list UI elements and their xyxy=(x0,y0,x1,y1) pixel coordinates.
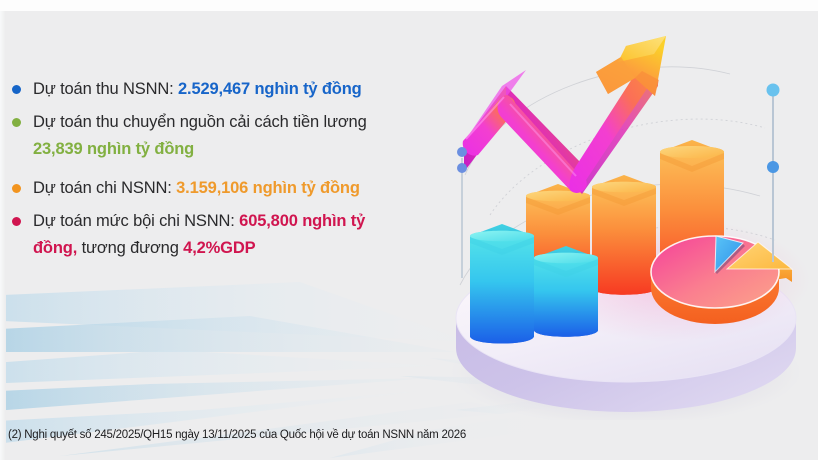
label-chi-nsnn: Dự toán chi NSNN: xyxy=(33,179,176,197)
right-connector-dots xyxy=(767,84,780,263)
bullet-row-thu-nsnn: Dự toán thu NSNN: 2.529,467 nghìn tỷ đồn… xyxy=(12,76,452,103)
bar-4-orange xyxy=(592,175,656,295)
label-tuong-duong: tương đương xyxy=(77,239,183,257)
bullet-row-chi-nsnn: Dự toán chi NSNN: 3.159,106 nghìn tỷ đồn… xyxy=(12,175,452,202)
bullet-row-thu-chuyen-nguon: Dự toán thu chuyển nguồn cải cách tiền l… xyxy=(12,109,452,163)
3d-statistics-illustration xyxy=(430,0,818,420)
bullet-list: Dự toán thu NSNN: 2.529,467 nghìn tỷ đồn… xyxy=(12,76,452,268)
top-white-strip xyxy=(0,0,818,11)
left-edge-highlight xyxy=(0,10,6,460)
value-chi-nsnn: 3.159,106 nghìn tỷ đồng xyxy=(176,179,360,197)
bullet-dot-icon-orange xyxy=(12,184,21,193)
value-thu-nsnn: 2.529,467 nghìn tỷ đồng xyxy=(178,80,362,98)
value-thu-chuyen-nguon: 23,839 nghìn tỷ đồng xyxy=(33,140,194,158)
bar-2-cyan-short xyxy=(534,246,598,337)
bullet-text-chi-nsnn: Dự toán chi NSNN: 3.159,106 nghìn tỷ đồn… xyxy=(33,175,360,202)
footnote-text: (2) Nghị quyết số 245/2025/QH15 ngày 13/… xyxy=(8,429,466,441)
slide-root: Dự toán thu NSNN: 2.529,467 nghìn tỷ đồn… xyxy=(0,0,818,460)
bullet-dot-icon-green xyxy=(12,118,21,127)
value-boi-chi-continuation: đồng, xyxy=(33,239,77,257)
value-boi-chi-nsnn: 605,800 nghìn tỷ xyxy=(239,212,365,230)
bullet-text-boi-chi-nsnn: Dự toán mức bội chi NSNN: 605,800 nghìn … xyxy=(33,208,365,262)
growth-arrow xyxy=(463,36,666,194)
bullet-row-boi-chi-nsnn: Dự toán mức bội chi NSNN: 605,800 nghìn … xyxy=(12,208,452,262)
bar-1-cyan-tall xyxy=(470,224,534,344)
value-gdp-percent: 4,2%GDP xyxy=(183,239,255,257)
bullet-text-thu-chuyen-nguon: Dự toán thu chuyển nguồn cải cách tiền l… xyxy=(33,109,367,163)
bullet-dot-icon-blue xyxy=(12,85,21,94)
label-thu-nsnn: Dự toán thu NSNN: xyxy=(33,80,178,98)
bullet-text-thu-nsnn: Dự toán thu NSNN: 2.529,467 nghìn tỷ đồn… xyxy=(33,76,362,103)
label-boi-chi-nsnn: Dự toán mức bội chi NSNN: xyxy=(33,212,239,230)
label-thu-chuyen-nguon: Dự toán thu chuyển nguồn cải cách tiền l… xyxy=(33,113,367,131)
bullet-dot-icon-red xyxy=(12,217,21,226)
left-connector-dots xyxy=(457,147,467,278)
